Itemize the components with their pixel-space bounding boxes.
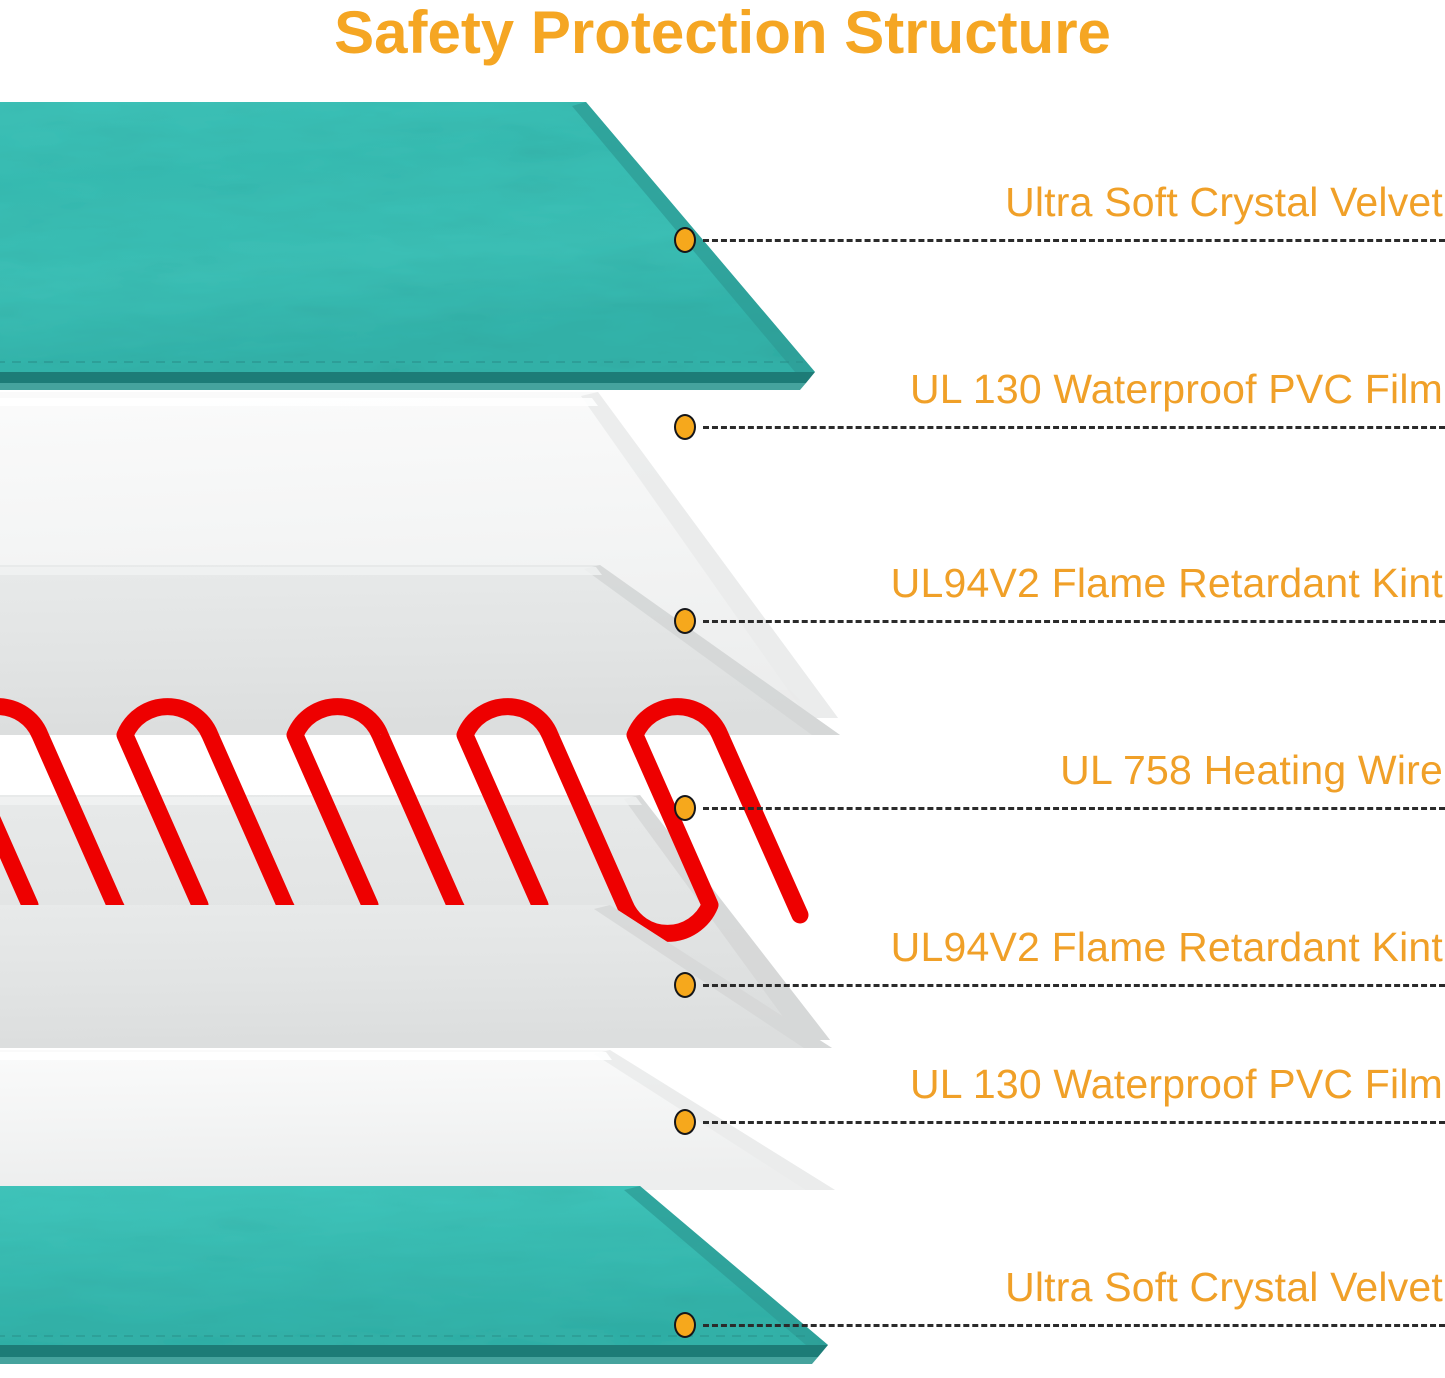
- callout-leader-line: [703, 984, 1445, 987]
- callout-leader-line: [703, 620, 1445, 623]
- callout-leader-line: [703, 426, 1445, 429]
- callout-leader-line: [703, 1324, 1445, 1327]
- callout-dot-icon: [674, 227, 696, 253]
- callout-leader-line: [703, 239, 1445, 242]
- callout-dot-icon: [674, 1312, 696, 1338]
- callout-label-heating-wire: UL 758 Heating Wire: [1060, 747, 1443, 794]
- callout-dot-icon: [674, 972, 696, 998]
- callout-dot-icon: [674, 608, 696, 634]
- callout-label-pvc-top: UL 130 Waterproof PVC Film: [910, 366, 1443, 413]
- infographic-page: Safety Protection Structure: [0, 0, 1445, 1378]
- callout-leader-line: [703, 807, 1445, 810]
- callout-label-pvc-bottom: UL 130 Waterproof PVC Film: [910, 1061, 1443, 1108]
- callout-leader-line: [703, 1121, 1445, 1124]
- callout-label-knit-bottom: UL94V2 Flame Retardant Kint: [891, 924, 1443, 971]
- callout-dot-icon: [674, 1109, 696, 1135]
- callout-dot-icon: [674, 414, 696, 440]
- callout-dot-icon: [674, 795, 696, 821]
- callout-list: Ultra Soft Crystal Velvet UL 130 Waterpr…: [0, 0, 1445, 1378]
- callout-label-knit-top: UL94V2 Flame Retardant Kint: [891, 560, 1443, 607]
- callout-label-velvet-bottom: Ultra Soft Crystal Velvet: [1005, 1264, 1443, 1311]
- callout-label-velvet-top: Ultra Soft Crystal Velvet: [1005, 179, 1443, 226]
